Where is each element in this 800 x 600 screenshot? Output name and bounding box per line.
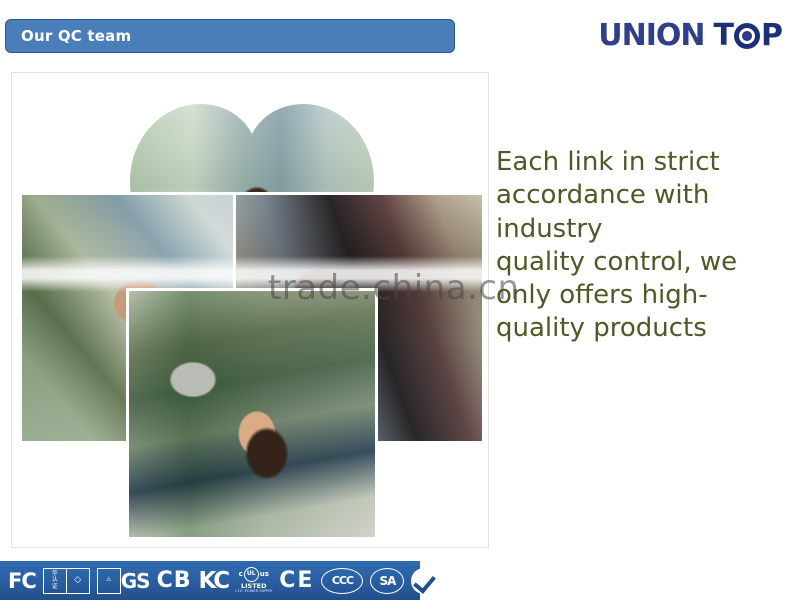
fcc-icon: FC (8, 569, 36, 593)
copy-paragraph-2: quality control, we only offers high-qua… (496, 246, 792, 346)
gs-icon: GS (121, 569, 150, 593)
saa-box-icon: ⚠ (97, 568, 121, 594)
image-frame (11, 72, 489, 548)
brand-logo: UNION T P (598, 18, 782, 54)
logo-o-ring-icon (734, 23, 760, 49)
psb-box-icon: 华认证 (43, 568, 67, 594)
page-title: Our QC team (21, 27, 131, 45)
kc-icon: KC (199, 568, 229, 594)
ccc-icon: CCC (321, 568, 363, 594)
cb-icon: CB (157, 568, 192, 593)
psb-certification-icon: 华认证 ◇ (43, 568, 90, 594)
csa-icon: SA (370, 568, 404, 594)
psb-diamond-icon: ◇ (67, 568, 90, 594)
ul-fine-print: I.T.E. POWER SUPPLY (235, 590, 272, 594)
section-header-bar: Our QC team (5, 19, 455, 53)
collage-photo-bottom (126, 288, 378, 540)
photo-collage-clover (37, 88, 467, 533)
saa-icon: ⚠ (97, 568, 121, 594)
marketing-copy: Each link in strict accordance with indu… (496, 146, 792, 346)
ce-icon: CE (279, 568, 314, 593)
ul-listed-icon: cULus LISTED I.T.E. POWER SUPPLY (235, 567, 272, 594)
logo-text-union: UNION (598, 21, 704, 51)
copy-paragraph-1: Each link in strict accordance with indu… (496, 146, 792, 246)
logo-letter-t: T (714, 21, 733, 51)
logo-letter-p: P (761, 21, 782, 51)
certification-bar: FC 华认证 ◇ ⚠ GS CB KC cULus LISTED I.T.E. … (0, 561, 420, 600)
logo-text-top: T P (714, 21, 782, 51)
ul-mark-icon: cULus (239, 567, 269, 582)
checkmark-certification-icon (411, 568, 437, 594)
